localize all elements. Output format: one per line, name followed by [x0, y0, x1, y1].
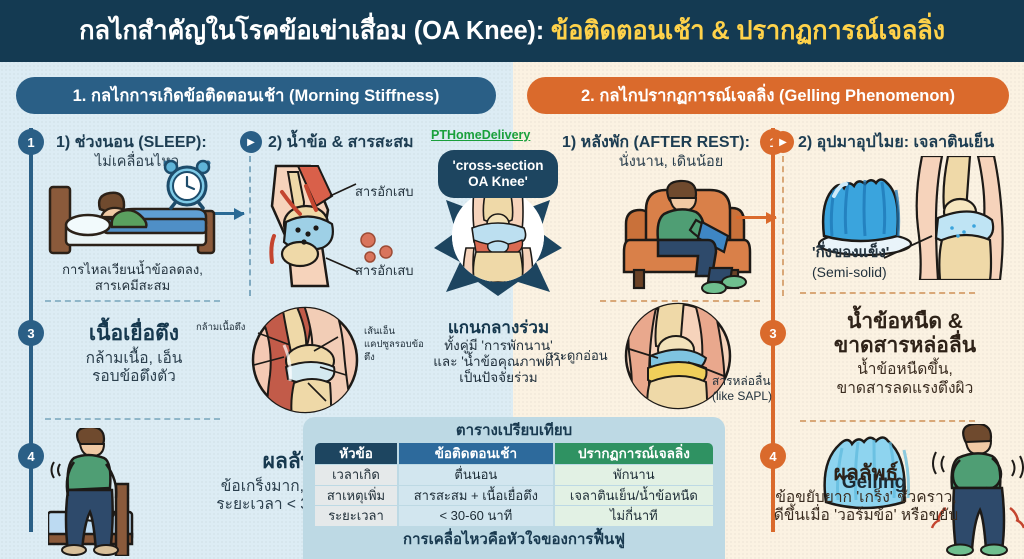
right-flow-arrow [736, 216, 776, 219]
right-step-2-semi-solid-label: 'กึ่งของแข็ง' (Semi-solid) [812, 243, 889, 281]
left-step-1-divider [45, 300, 220, 302]
left-step-2-heading: 2) น้ำข้อ & สารสะสม [268, 130, 414, 155]
right-step-3-knee-label-right-l1: สารหล่อลื่น [712, 374, 772, 389]
row-1-gelling: เจลาตินเย็น/น้ำข้อหนืด [555, 486, 713, 506]
left-step-3-body-line1: กล้ามเนื้อ, เอ็น [36, 350, 232, 369]
header-bar: กลไกสำคัญในโรคข้อเข่าเสื่อม (OA Knee): ข… [0, 0, 1024, 62]
table-row: ระยะเวลา < 30-60 นาที ไม่กี่นาที [315, 506, 713, 526]
person-resting-in-armchair-illustration [610, 176, 770, 294]
right-step-3-text: น้ำข้อหนืด & ขาดสารหล่อลื่น น้ำข้อหนืดขึ… [790, 310, 1020, 399]
left-step-1-caption-line1: การไหลเวียนน้ำข้อลดลง, [40, 262, 225, 278]
left-step-3-body-line2: รอบข้อตึงตัว [36, 368, 232, 387]
right-step-4-text: ผลลัพธ์ ข้อขยับยาก 'เกร็ง' ชั่วคราว, ดีข… [716, 462, 1016, 526]
comparison-table-container: ตารางเปรียบเทียบ หัวข้อ ข้อติดตอนเช้า ปร… [303, 417, 725, 559]
label-leader-line-top [318, 178, 358, 200]
left-step-2-play-icon: ▶ [240, 131, 262, 153]
row-1-topic: สาเหตุเพิ่ม [315, 486, 397, 506]
row-0-stiffness: ตื่นนอน [399, 465, 553, 485]
cross-section-knee-image [452, 190, 544, 282]
left-step-1-caption: การไหลเวียนน้ำข้อลดลง, สารเคมีสะสม [40, 262, 225, 294]
left-step-4-node: 4 [18, 443, 44, 469]
right-panel-title: 2. กลไกปรากฏการณ์เจลลิ่ง (Gelling Phenom… [527, 77, 1009, 114]
left-step-3-divider [45, 418, 220, 420]
right-step-3-knee-label-right-l2: (like SAPL) [712, 389, 772, 404]
right-step-4-title: ผลลัพธ์ [716, 462, 1016, 486]
right-step-3-title-line1: น้ำข้อหนืด & [790, 310, 1020, 334]
table-header-morning-stiffness: ข้อติดตอนเช้า [399, 443, 553, 465]
right-step-4-body-line1: ข้อขยับยาก 'เกร็ง' ชั่วคราว, [716, 489, 1016, 508]
left-column-divider [249, 156, 251, 296]
comparison-table-title: ตารางเปรียบเทียบ [313, 421, 715, 441]
right-step-4-body-line2: ดีขึ้นเมื่อ 'วอร์มข้อ' หรือขยับ [716, 507, 1016, 526]
center-body-line2: และ 'น้ำข้อคุณภาพต่ำ' [406, 354, 591, 370]
watermark-pthomedelivery: PTHomeDelivery [431, 128, 530, 142]
right-step-2-heading: 2) อุปมาอุปไมย: เจลาตินเย็น [798, 130, 994, 155]
right-step-3-body-line1: น้ำข้อหนืดขึ้น, [790, 361, 1020, 380]
left-panel-title: 1. กลไกการเกิดข้อติดตอนเช้า (Morning Sti… [16, 77, 496, 114]
tight-tissue-knee-illustration [250, 305, 360, 415]
center-core-text: แกนกลางร่วม ทั้งคู่มี 'การพักนาน' และ 'น… [406, 318, 591, 387]
comparison-table-head: หัวข้อ ข้อติดตอนเช้า ปรากฏการณ์เจลลิ่ง [315, 443, 713, 465]
left-step-2-label-bottom: สารอักเสบ [355, 263, 414, 279]
right-step-2-label-line1: 'กึ่งของแข็ง' [812, 243, 889, 263]
left-step-2-label-top: สารอักเสบ [355, 184, 414, 200]
comparison-table-footer: การเคลื่อไหวคือหัวใจของการฟื้นฟู [313, 530, 715, 550]
row-2-topic: ระยะเวลา [315, 506, 397, 526]
right-step-3-node: 3 [760, 320, 786, 346]
row-2-gelling: ไม่กี่นาที [555, 506, 713, 526]
left-step-1-caption-line2: สารเคมีสะสม [40, 278, 225, 294]
table-row: สาเหตุเพิ่ม สารสะสม + เนื้อเยื่อตึง เจลา… [315, 486, 713, 506]
right-step-3-divider [800, 420, 975, 422]
label-leader-line-bottom [316, 254, 360, 280]
table-header-topic: หัวข้อ [315, 443, 397, 465]
stiff-person-illustration [48, 428, 168, 556]
left-step-3-knee-label-left: กล้ามเนื้อตึง [196, 322, 245, 333]
inflammation-particles-icon [358, 230, 406, 266]
alarm-clock-icon [163, 158, 211, 210]
infographic-canvas: กลไกสำคัญในโรคข้อเข่าเสื่อม (OA Knee): ข… [0, 0, 1024, 559]
right-step-2-divider [800, 292, 975, 294]
table-header-gelling: ปรากฏการณ์เจลลิ่ง [555, 443, 713, 465]
cross-section-badge-line1: 'cross-section [453, 158, 544, 174]
page-title: กลไกสำคัญในโรคข้อเข่าเสื่อม (OA Knee): ข… [79, 11, 945, 51]
center-body-line1: ทั้งคู่มี 'การพักนาน' [406, 338, 591, 354]
row-0-gelling: พักนาน [555, 465, 713, 485]
row-2-stiffness: < 30-60 นาที [399, 506, 553, 526]
title-accent: ข้อติดตอนเช้า & ปรากฏการณ์เจลลิ่ง [551, 17, 945, 45]
right-step-3-body-line2: ขาดสารลดแรงตึงผิว [790, 380, 1020, 399]
center-body-line3: เป็นปัจจัยร่วม [406, 370, 591, 386]
row-1-stiffness: สารสะสม + เนื้อเยื่อตึง [399, 486, 553, 506]
right-step-2-play-icon: ▶ [772, 131, 794, 153]
table-row: เวลาเกิด ตื่นนอน พักนาน [315, 465, 713, 485]
right-step-3-knee-label-right: สารหล่อลื่น (like SAPL) [712, 374, 772, 404]
left-step-1-node: 1 [18, 129, 44, 155]
right-step-1-sub: นั่งนาน, เดินน้อย [596, 150, 746, 173]
right-column-divider [782, 156, 784, 296]
title-main: กลไกสำคัญในโรคข้อเข่าเสื่อม (OA Knee): [79, 17, 551, 45]
right-step-3-title-line2: ขาดสารหล่อลื่น [790, 334, 1020, 358]
comparison-table-body: เวลาเกิด ตื่นนอน พักนาน สาเหตุเพิ่ม สารส… [315, 465, 713, 526]
table-header-row: หัวข้อ ข้อติดตอนเช้า ปรากฏการณ์เจลลิ่ง [315, 443, 713, 465]
comparison-table: หัวข้อ ข้อติดตอนเช้า ปรากฏการณ์เจลลิ่ง เ… [313, 442, 715, 527]
row-0-topic: เวลาเกิด [315, 465, 397, 485]
cross-section-badge: 'cross-section OA Knee' [438, 150, 558, 198]
right-step-2-label-line2: (Semi-solid) [812, 263, 889, 281]
cross-section-badge-line2: OA Knee' [453, 174, 544, 190]
center-heading: แกนกลางร่วม [406, 318, 591, 338]
